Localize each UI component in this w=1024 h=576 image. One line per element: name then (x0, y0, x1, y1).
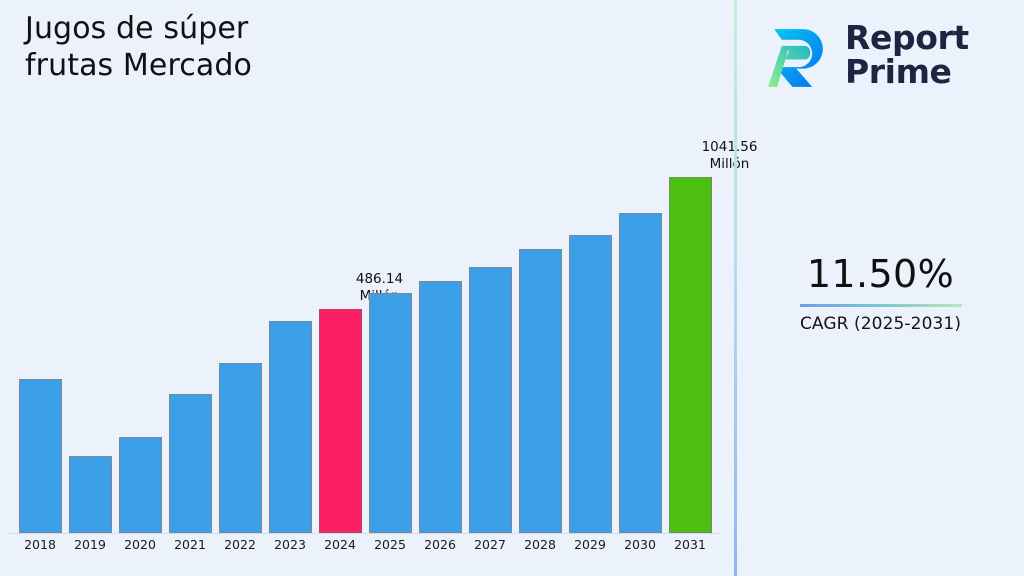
bar-2021[interactable] (165, 43, 215, 533)
bar-rect-2027[interactable] (469, 267, 512, 533)
x-tick-label-2026: 2026 (415, 537, 465, 552)
bar-rect-2024[interactable]: 486.14 Millón (319, 309, 362, 533)
bar-rect-2018[interactable] (19, 379, 62, 533)
bar-2028[interactable] (515, 43, 565, 533)
bar-2019[interactable] (65, 43, 115, 533)
x-tick-label-2031: 2031 (665, 537, 715, 552)
x-tick-label-2027: 2027 (465, 537, 515, 552)
bar-rect-2021[interactable] (169, 394, 212, 533)
x-tick-label-2021: 2021 (165, 537, 215, 552)
bar-2031[interactable]: 1041.56 Millón (665, 43, 715, 533)
bar-chart-plot: 201820192020202120222023486.14 Millón202… (0, 0, 735, 576)
x-tick-label-2019: 2019 (65, 537, 115, 552)
bar-2020[interactable] (115, 43, 165, 533)
x-tick-label-2024: 2024 (315, 537, 365, 552)
bar-rect-2023[interactable] (269, 321, 312, 533)
x-tick-label-2029: 2029 (565, 537, 615, 552)
x-tick-label-2018: 2018 (15, 537, 65, 552)
bar-rect-2030[interactable] (619, 213, 662, 533)
x-tick-label-2025: 2025 (365, 537, 415, 552)
x-tick-label-2020: 2020 (115, 537, 165, 552)
bar-rect-2029[interactable] (569, 235, 612, 533)
bar-2018[interactable] (15, 43, 65, 533)
bar-rect-2025[interactable] (369, 293, 412, 533)
brand-logo: Report Prime (759, 10, 1014, 100)
x-tick-label-2023: 2023 (265, 537, 315, 552)
bar-rect-2026[interactable] (419, 281, 462, 533)
x-tick-label-2030: 2030 (615, 537, 665, 552)
bar-2027[interactable] (465, 43, 515, 533)
bar-2024[interactable]: 486.14 Millón (315, 43, 365, 533)
brand-wordmark: Report Prime (845, 21, 969, 88)
brand-panel: Report Prime 11.50% CAGR (2025-2031) (737, 0, 1024, 576)
x-axis-line (8, 533, 720, 534)
cagr-value: 11.50% (737, 255, 1024, 295)
bar-rect-2020[interactable] (119, 437, 162, 533)
bar-rect-2022[interactable] (219, 363, 262, 533)
bar-2023[interactable] (265, 43, 315, 533)
bar-2022[interactable] (215, 43, 265, 533)
bar-rect-2028[interactable] (519, 249, 562, 533)
bar-2025[interactable] (365, 43, 415, 533)
x-tick-label-2028: 2028 (515, 537, 565, 552)
chart-panel: Jugos de súper frutas Mercado 2018201920… (0, 0, 735, 576)
x-tick-label-2022: 2022 (215, 537, 265, 552)
cagr-divider (800, 304, 962, 307)
bar-2029[interactable] (565, 43, 615, 533)
cagr-block: 11.50% CAGR (2025-2031) (737, 255, 1024, 334)
report-prime-logo-icon (759, 17, 835, 93)
cagr-caption: CAGR (2025-2031) (737, 314, 1024, 334)
bar-2030[interactable] (615, 43, 665, 533)
bar-rect-2019[interactable] (69, 456, 112, 533)
bar-2026[interactable] (415, 43, 465, 533)
bar-rect-2031[interactable]: 1041.56 Millón (669, 177, 712, 533)
